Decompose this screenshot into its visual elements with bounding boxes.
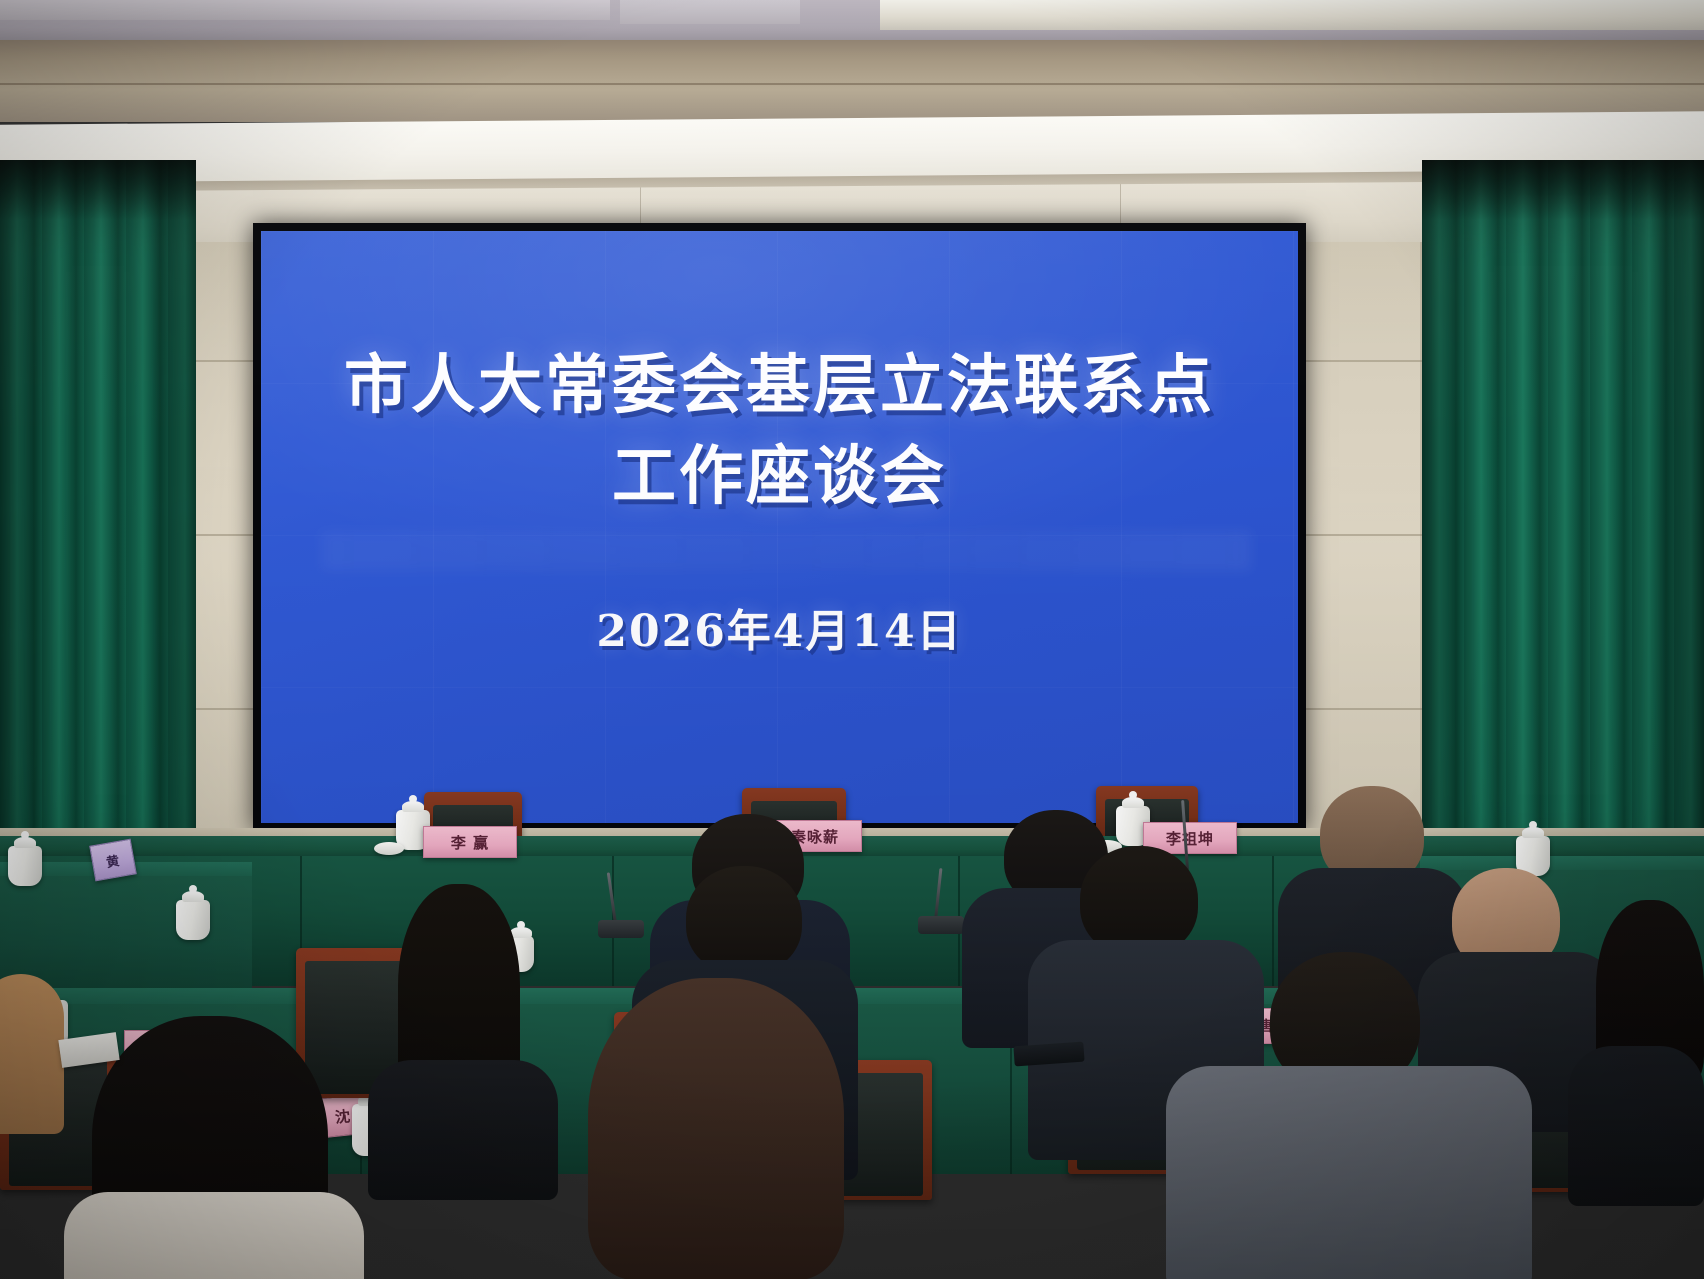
- conference-room-photo: 市人大常委会基层立法联系点 工作座谈会 2026年4月14日 李 赢 李: [0, 0, 1704, 1279]
- slide-title-line1: 市人大常委会基层立法联系点: [344, 348, 1215, 423]
- torso: [0, 974, 64, 1134]
- slide-content: 市人大常委会基层立法联系点 工作座谈会 2026年4月14日: [261, 341, 1298, 659]
- torso: [1568, 1046, 1704, 1206]
- table-skirt-seam: [1272, 856, 1274, 986]
- placard-head-1: 李 赢: [423, 826, 517, 858]
- microphone: [918, 916, 964, 934]
- ceiling-light-strip: [880, 0, 1704, 30]
- hair: [588, 978, 844, 1279]
- slide-title: 市人大常委会基层立法联系点 工作座谈会: [261, 341, 1298, 523]
- ceiling-recess: [620, 0, 800, 24]
- torso: [64, 1192, 364, 1279]
- torso: [1166, 1066, 1532, 1279]
- curtain-shadow: [0, 160, 196, 220]
- slide-date: 2026年4月14日: [261, 595, 1298, 659]
- torso: [368, 1060, 558, 1200]
- led-screen-bezel: 市人大常委会基层立法联系点 工作座谈会 2026年4月14日: [253, 223, 1306, 831]
- microphone: [598, 920, 644, 938]
- head: [686, 866, 802, 974]
- ceiling-wood-beam: [0, 40, 1704, 122]
- teacup: [8, 846, 42, 886]
- led-screen: 市人大常委会基层立法联系点 工作座谈会 2026年4月14日: [261, 231, 1298, 823]
- saucer: [374, 842, 404, 855]
- placard-audience-purple: 黄: [89, 839, 137, 882]
- curtain-shadow: [1422, 160, 1704, 220]
- slide-title-line2: 工作座谈会: [319, 432, 1240, 523]
- ceiling-light-left: [0, 0, 610, 20]
- teacup: [176, 900, 210, 940]
